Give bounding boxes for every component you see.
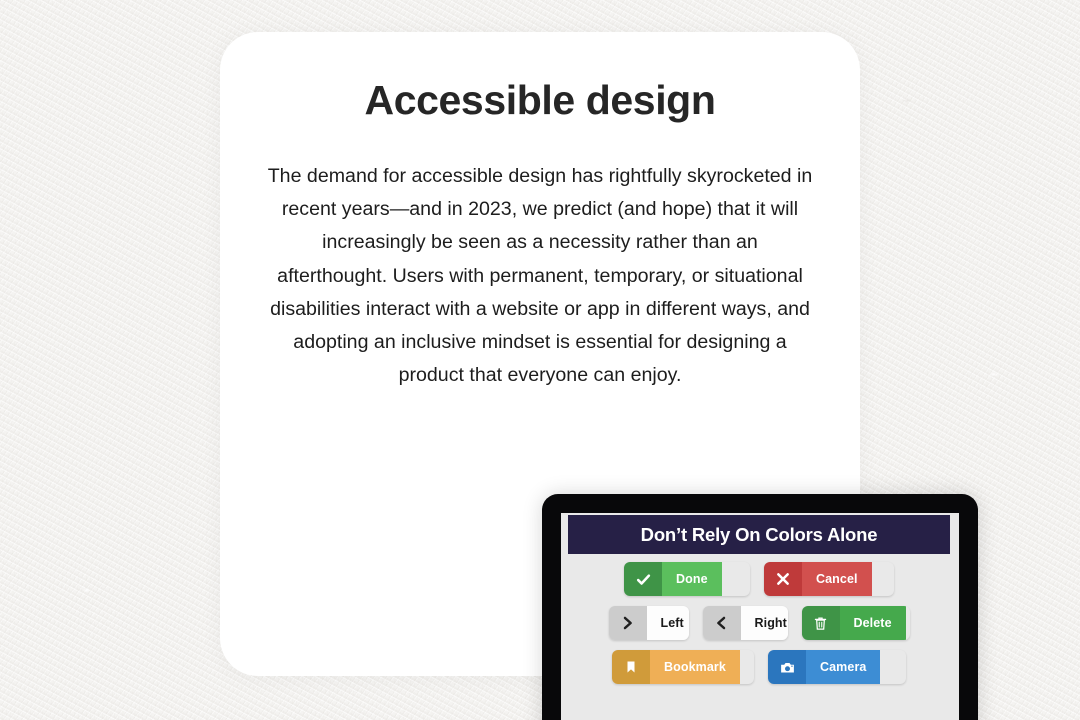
button-row-2: Left Right bbox=[609, 606, 910, 640]
screen-header-bar: Don’t Rely On Colors Alone bbox=[568, 515, 950, 554]
body-paragraph: The demand for accessible design has rig… bbox=[266, 160, 814, 392]
button-row-3: Bookmark Camera bbox=[612, 650, 906, 684]
page-title: Accessible design bbox=[220, 77, 860, 124]
button-row-1: Done Cancel bbox=[624, 562, 894, 596]
bookmark-icon bbox=[612, 650, 650, 684]
bookmark-button-label: Bookmark bbox=[650, 650, 740, 684]
left-button-label: Left bbox=[647, 606, 689, 640]
bookmark-button[interactable]: Bookmark bbox=[612, 650, 754, 684]
right-button[interactable]: Right bbox=[703, 606, 788, 640]
chevron-right-icon bbox=[609, 606, 647, 640]
tablet-screen: Don’t Rely On Colors Alone Done bbox=[561, 513, 959, 720]
button-grid: Done Cancel bbox=[568, 562, 950, 684]
check-icon bbox=[624, 562, 662, 596]
done-button-label: Done bbox=[662, 562, 722, 596]
screen-header-title: Don’t Rely On Colors Alone bbox=[641, 524, 878, 546]
camera-button[interactable]: Camera bbox=[768, 650, 906, 684]
chevron-left-icon bbox=[703, 606, 741, 640]
cancel-button[interactable]: Cancel bbox=[764, 562, 894, 596]
camera-button-label: Camera bbox=[806, 650, 880, 684]
done-button[interactable]: Done bbox=[624, 562, 750, 596]
right-button-label: Right bbox=[741, 606, 788, 640]
delete-button[interactable]: Delete bbox=[802, 606, 910, 640]
trash-icon bbox=[802, 606, 840, 640]
tablet-device-mockup: Don’t Rely On Colors Alone Done bbox=[542, 494, 978, 720]
camera-icon bbox=[768, 650, 806, 684]
left-button[interactable]: Left bbox=[609, 606, 689, 640]
cancel-button-label: Cancel bbox=[802, 562, 872, 596]
delete-button-label: Delete bbox=[840, 606, 906, 640]
x-icon bbox=[764, 562, 802, 596]
content-card: Accessible design The demand for accessi… bbox=[220, 32, 860, 676]
